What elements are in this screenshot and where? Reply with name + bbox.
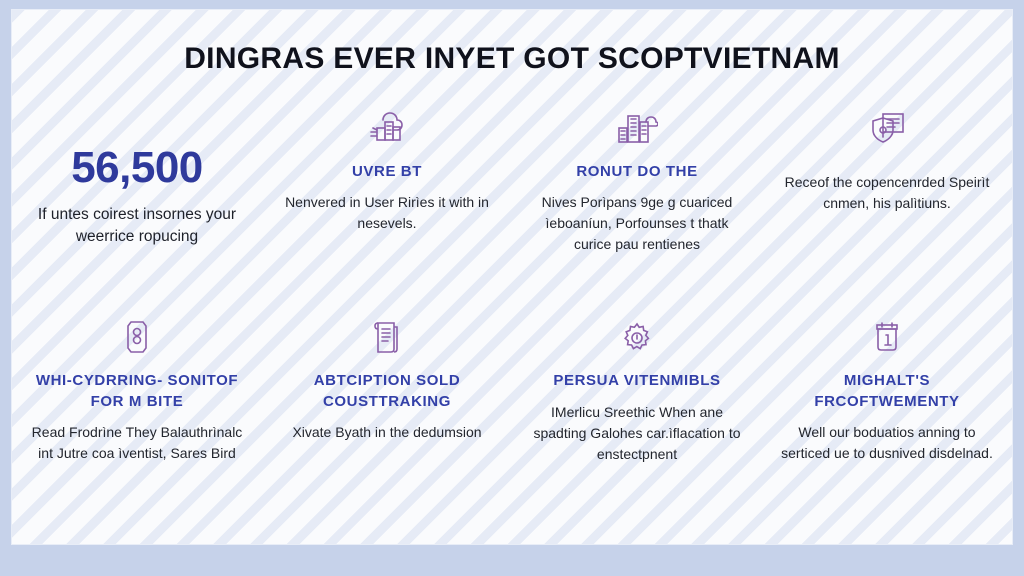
tag-label-icon xyxy=(108,311,166,355)
cell-body: Well our boduatios anning to serticed ue… xyxy=(780,422,995,464)
document-list-icon xyxy=(358,311,416,355)
cell-body: Read Frodrìne They Balauthrìnalc int Jut… xyxy=(30,422,245,464)
cell-body: IMerlicu Sreethic When ane spadting Galo… xyxy=(530,402,745,465)
stat-cell-7: PERSUA VITENMIBLS IMerlicu Sreethic When… xyxy=(512,297,762,464)
stat-cell-8: MIGHALT'S FRCOFTWEMENTY Well our boduati… xyxy=(762,297,1012,464)
cell-body: Xivate Byath in the dedumsion xyxy=(292,422,481,443)
cell-heading: WHI-CYDRRING- SONITOF FOR M BITE xyxy=(24,371,250,412)
stat-cell-2: UVRE BT Nenvered in User Rirìes it with … xyxy=(262,102,512,255)
gear-icon xyxy=(608,311,666,355)
stat-value: 56,500 xyxy=(71,146,203,190)
stats-row-bottom: WHI-CYDRRING- SONITOF FOR M BITE Read Fr… xyxy=(12,297,1012,464)
cell-heading: PERSUA VITENMIBLS xyxy=(553,371,720,391)
stat-cell-6: ABTCIPTION SOLD COUSTTRAKING Xivate Byat… xyxy=(262,297,512,464)
shield-document-icon xyxy=(858,102,916,146)
stat-cell-4: Receof the copencenrded Speirìt cnmen, h… xyxy=(762,102,1012,255)
page-title: DINGRAS EVER INYET GOT SCOPTVIETNAM xyxy=(12,42,1012,76)
cell-heading: MIGHALT'S FRCOFTWEMENTY xyxy=(774,371,1000,412)
stat-cell-5: WHI-CYDRRING- SONITOF FOR M BITE Read Fr… xyxy=(12,297,262,464)
cell-heading: ABTCIPTION SOLD COUSTTRAKING xyxy=(274,371,500,412)
cell-heading: RONUT DO THE xyxy=(576,162,697,182)
page-frame: DINGRAS EVER INYET GOT SCOPTVIETNAM 56,5… xyxy=(0,0,1024,576)
cell-body: Receof the copencenrded Speirìt cnmen, h… xyxy=(780,172,995,214)
city-buildings-icon xyxy=(608,102,666,146)
stat-description: If untes coirest insornes your weerrice … xyxy=(24,204,250,249)
cloud-server-icon xyxy=(358,102,416,146)
stats-grid: 56,500 If untes coirest insornes your we… xyxy=(12,102,1012,465)
cell-heading: UVRE BT xyxy=(352,162,422,182)
stat-cell-3: RONUT DO THE Nives Porìpans 9ge g cuaric… xyxy=(512,102,762,255)
cell-body: Nives Porìpans 9ge g cuariced ìeboaníun,… xyxy=(530,192,745,255)
stat-cell-1: 56,500 If untes coirest insornes your we… xyxy=(12,102,262,255)
cell-body: Nenvered in User Rirìes it with in nesev… xyxy=(280,192,495,234)
stats-row-top: 56,500 If untes coirest insornes your we… xyxy=(12,102,1012,255)
infographic-card: DINGRAS EVER INYET GOT SCOPTVIETNAM 56,5… xyxy=(12,10,1012,544)
calendar-one-icon xyxy=(858,311,916,355)
